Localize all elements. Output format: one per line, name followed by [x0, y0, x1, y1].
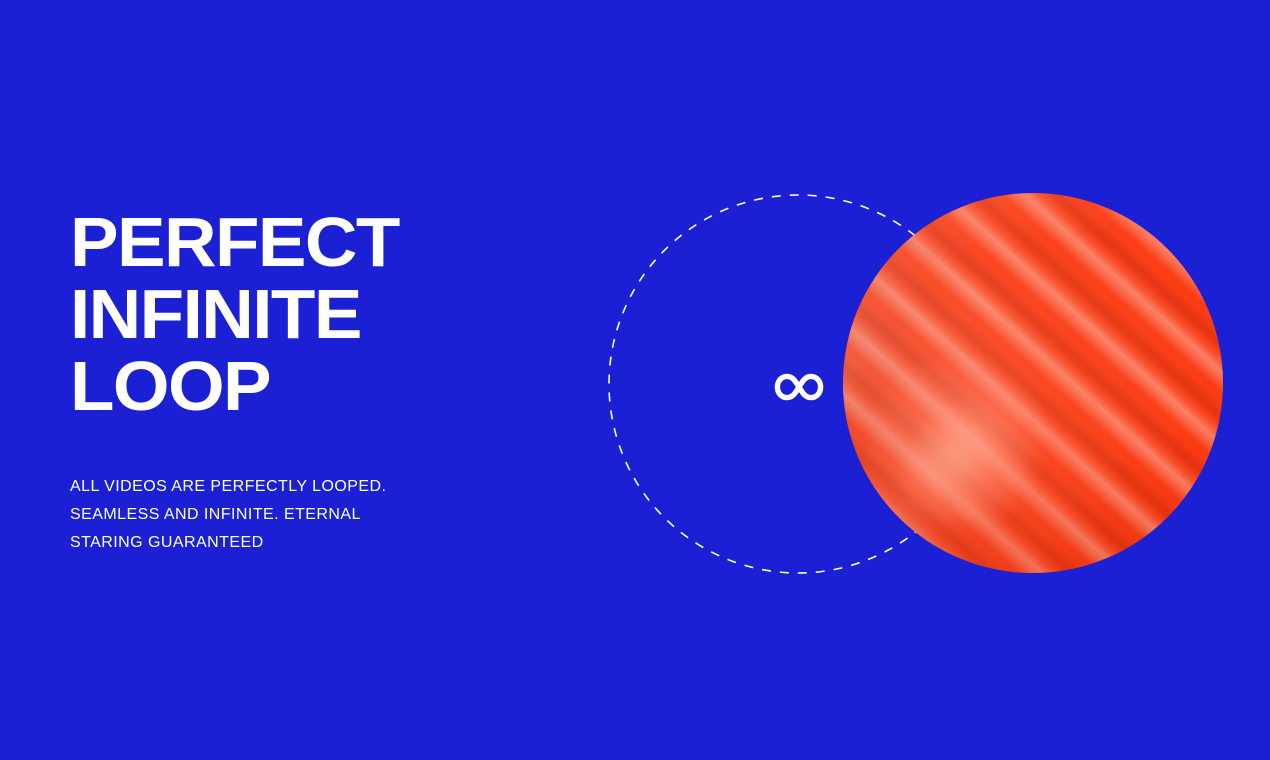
infinity-icon	[774, 368, 824, 406]
infinity-path	[777, 376, 820, 397]
sphere-rim-light	[843, 193, 1223, 573]
hero-section: PERFECT INFINITE LOOP ALL VIDEOS ARE PER…	[0, 0, 1270, 760]
page-title: PERFECT INFINITE LOOP	[70, 206, 652, 422]
subcopy-text: ALL VIDEOS ARE PERFECTLY LOOPED. SEAMLES…	[70, 473, 490, 557]
headline-line-1: PERFECT	[70, 206, 652, 278]
sphere-graphic	[843, 193, 1223, 573]
subcopy-line-2: SEAMLESS AND INFINITE. ETERNAL	[70, 501, 490, 529]
subcopy-line-3: STARING GUARANTEED	[70, 529, 490, 557]
subcopy-line-1: ALL VIDEOS ARE PERFECTLY LOOPED.	[70, 473, 490, 501]
sphere-body	[843, 193, 1223, 573]
headline-line-2: INFINITE	[70, 278, 652, 350]
infinity-svg	[774, 368, 824, 406]
headline-line-3: LOOP	[70, 350, 652, 422]
copy-block: PERFECT INFINITE LOOP ALL VIDEOS ARE PER…	[70, 206, 630, 422]
